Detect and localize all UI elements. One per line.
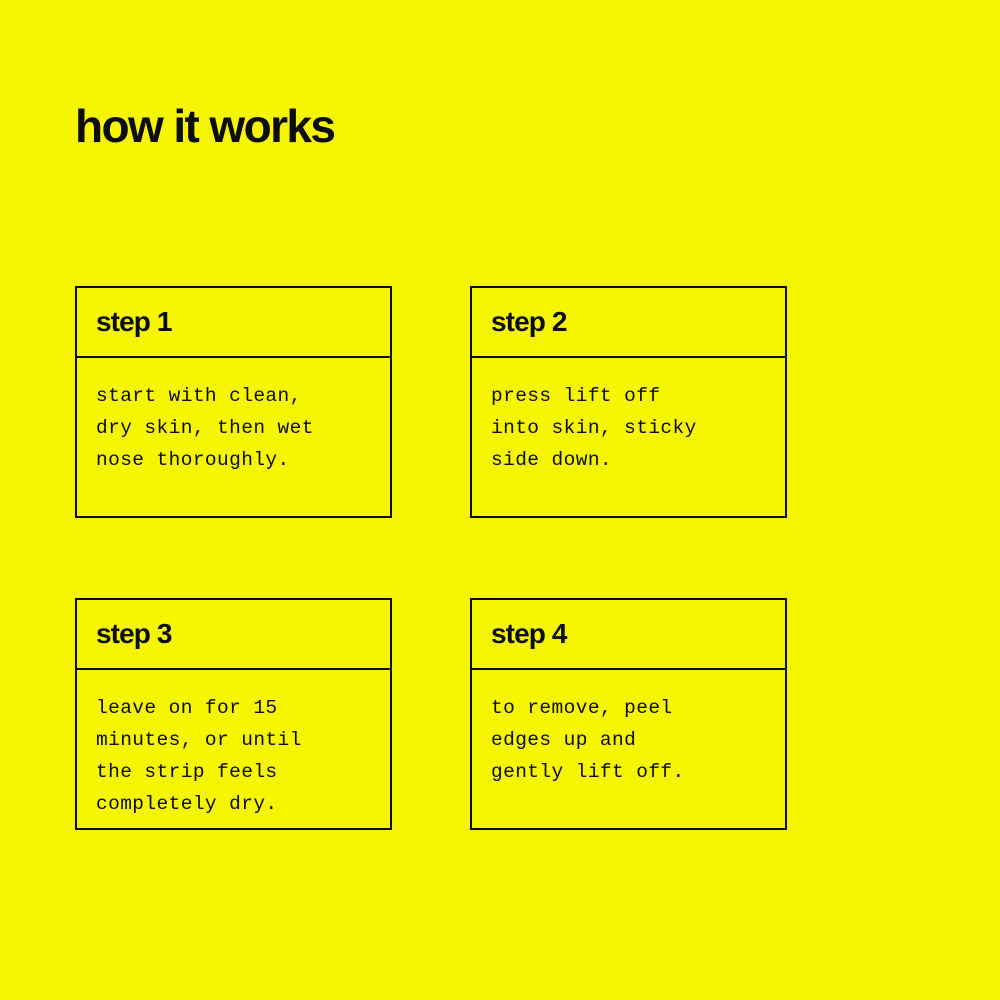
step-card-text-2: press lift off into skin, sticky side do… xyxy=(491,380,771,476)
step-card-3: step 3 leave on for 15 minutes, or until… xyxy=(75,598,392,830)
step-card-body-2: press lift off into skin, sticky side do… xyxy=(472,358,785,516)
step-card-text-3: leave on for 15 minutes, or until the st… xyxy=(96,692,376,820)
steps-grid: step 1 start with clean, dry skin, then … xyxy=(75,286,787,830)
step-card-header-4: step 4 xyxy=(472,600,785,670)
step-card-title-2: step 2 xyxy=(491,307,567,337)
step-card-header-3: step 3 xyxy=(77,600,390,670)
step-card-2: step 2 press lift off into skin, sticky … xyxy=(470,286,787,518)
step-card-body-4: to remove, peel edges up and gently lift… xyxy=(472,670,785,828)
page-title: how it works xyxy=(75,98,334,154)
instruction-panel: how it works step 1 start with clean, dr… xyxy=(0,0,1000,1000)
step-card-4: step 4 to remove, peel edges up and gent… xyxy=(470,598,787,830)
step-card-body-1: start with clean, dry skin, then wet nos… xyxy=(77,358,390,516)
step-card-text-1: start with clean, dry skin, then wet nos… xyxy=(96,380,376,476)
step-card-title-4: step 4 xyxy=(491,619,567,649)
step-card-header-1: step 1 xyxy=(77,288,390,358)
step-card-text-4: to remove, peel edges up and gently lift… xyxy=(491,692,771,788)
step-card-body-3: leave on for 15 minutes, or until the st… xyxy=(77,670,390,828)
step-card-header-2: step 2 xyxy=(472,288,785,358)
step-card-1: step 1 start with clean, dry skin, then … xyxy=(75,286,392,518)
step-card-title-3: step 3 xyxy=(96,619,172,649)
step-card-title-1: step 1 xyxy=(96,307,172,337)
